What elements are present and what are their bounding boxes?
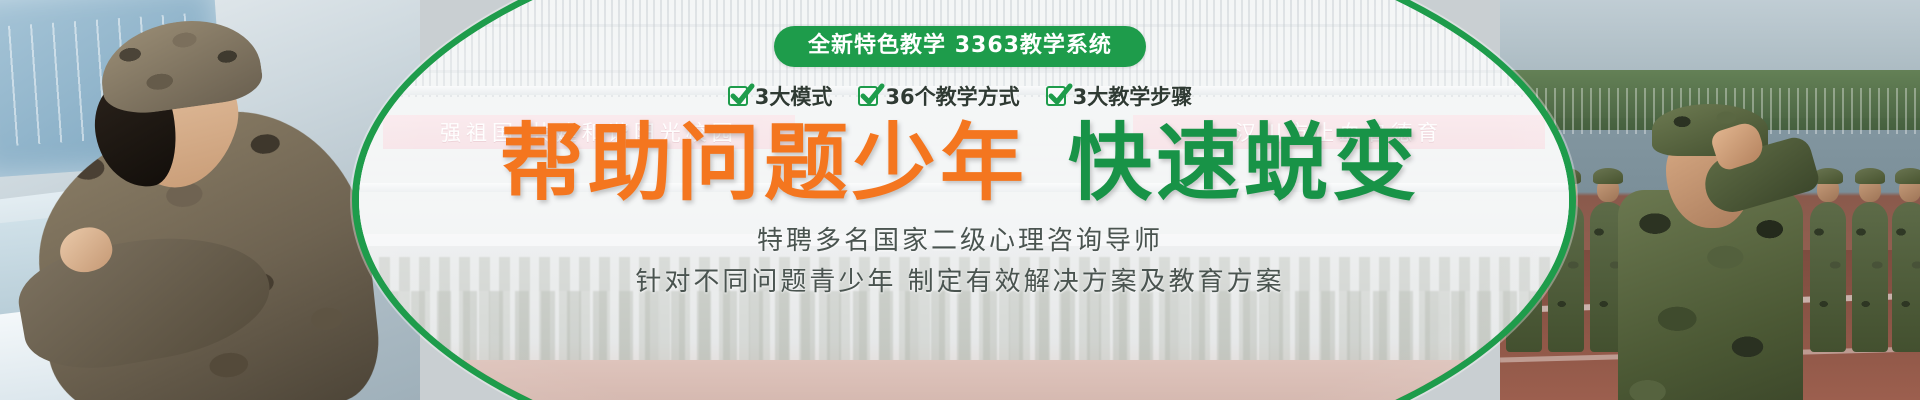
headline-secondary: 快速蜕变 [1068, 121, 1420, 207]
check-icon [1046, 86, 1066, 106]
subtitle-line-2: 针对不同问题青少年 制定有效解决方案及教育方案 [635, 262, 1284, 303]
headline-primary: 帮助问题少年 [500, 121, 1028, 207]
badge-teaching-system[interactable]: 全新特色教学 3363教学系统 [774, 26, 1146, 67]
feature-list: 3大模式 36个教学方式 3大教学步骤 [728, 81, 1192, 111]
banner-content: 全新特色教学 3363教学系统 3大模式 36个教学方式 [0, 0, 1920, 400]
subtitle-line-1: 特聘多名国家二级心理咨询导师 [635, 221, 1284, 262]
feature-item-methods: 36个教学方式 [858, 81, 1019, 111]
check-icon [858, 86, 878, 106]
check-icon [728, 86, 748, 106]
promo-banner[interactable]: 强祖国 共建和谐阳光校园 汉川市止血启德育 全新特色教学 3363教学系统 3大… [0, 0, 1920, 400]
feature-label: 3大模式 [755, 81, 833, 111]
feature-item-modes: 3大模式 [728, 81, 833, 111]
feature-label: 36个教学方式 [885, 81, 1019, 111]
subtitle-block: 特聘多名国家二级心理咨询导师 针对不同问题青少年 制定有效解决方案及教育方案 [635, 221, 1284, 303]
feature-label: 3大教学步骤 [1073, 81, 1193, 111]
headline: 帮助问题少年 快速蜕变 [500, 121, 1420, 207]
feature-item-steps: 3大教学步骤 [1046, 81, 1193, 111]
